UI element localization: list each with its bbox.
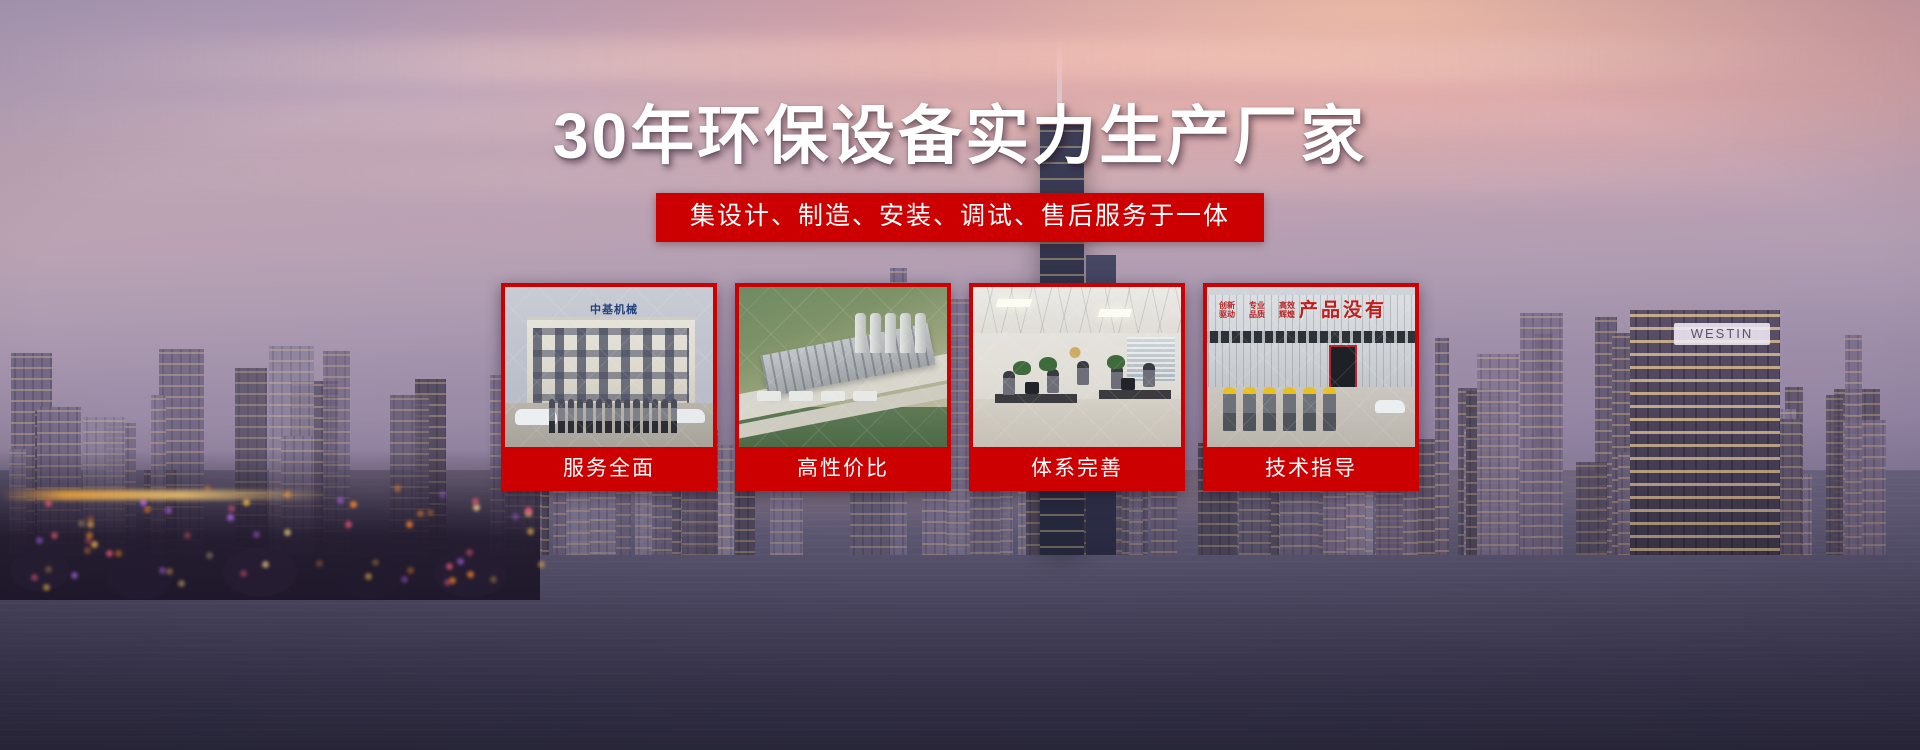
feature-card[interactable]: 中基机械 服务全面 [501, 283, 717, 491]
banner-headline: 30年环保设备实力生产厂家 [0, 104, 1920, 168]
card-caption: 高性价比 [739, 447, 947, 491]
card-caption: 技术指导 [1207, 447, 1415, 491]
card-photo-aerial-plant [739, 287, 947, 447]
banner-subtitle-wrap: 集设计、制造、安装、调试、售后服务于一体 [0, 193, 1920, 242]
card-caption: 服务全面 [505, 447, 713, 491]
feature-card[interactable]: 高性价比 [735, 283, 951, 491]
card-caption: 体系完善 [973, 447, 1181, 491]
feature-card[interactable]: 体系完善 [969, 283, 1185, 491]
banner-subtitle: 集设计、制造、安装、调试、售后服务于一体 [656, 193, 1264, 242]
feature-card-list: 中基机械 服务全面 [0, 283, 1920, 491]
factory-wall-banner-text: 产品没有 [1299, 299, 1415, 323]
card-photo-factory: 创新驱动 专业品质 高效辉煌 产品没有 [1207, 287, 1415, 447]
card-photo-office [973, 287, 1181, 447]
hero-banner: WESTIN 30年环保设备实力生产厂家 集设计、制造、安装、调试、售后服务于一… [0, 0, 1920, 750]
banner-content: 30年环保设备实力生产厂家 集设计、制造、安装、调试、售后服务于一体 中基机械 … [0, 0, 1920, 750]
card-photo-building: 中基机械 [505, 287, 713, 447]
building-sign-text: 中基机械 [571, 303, 657, 318]
feature-card[interactable]: 创新驱动 专业品质 高效辉煌 产品没有 技术指导 [1203, 283, 1419, 491]
